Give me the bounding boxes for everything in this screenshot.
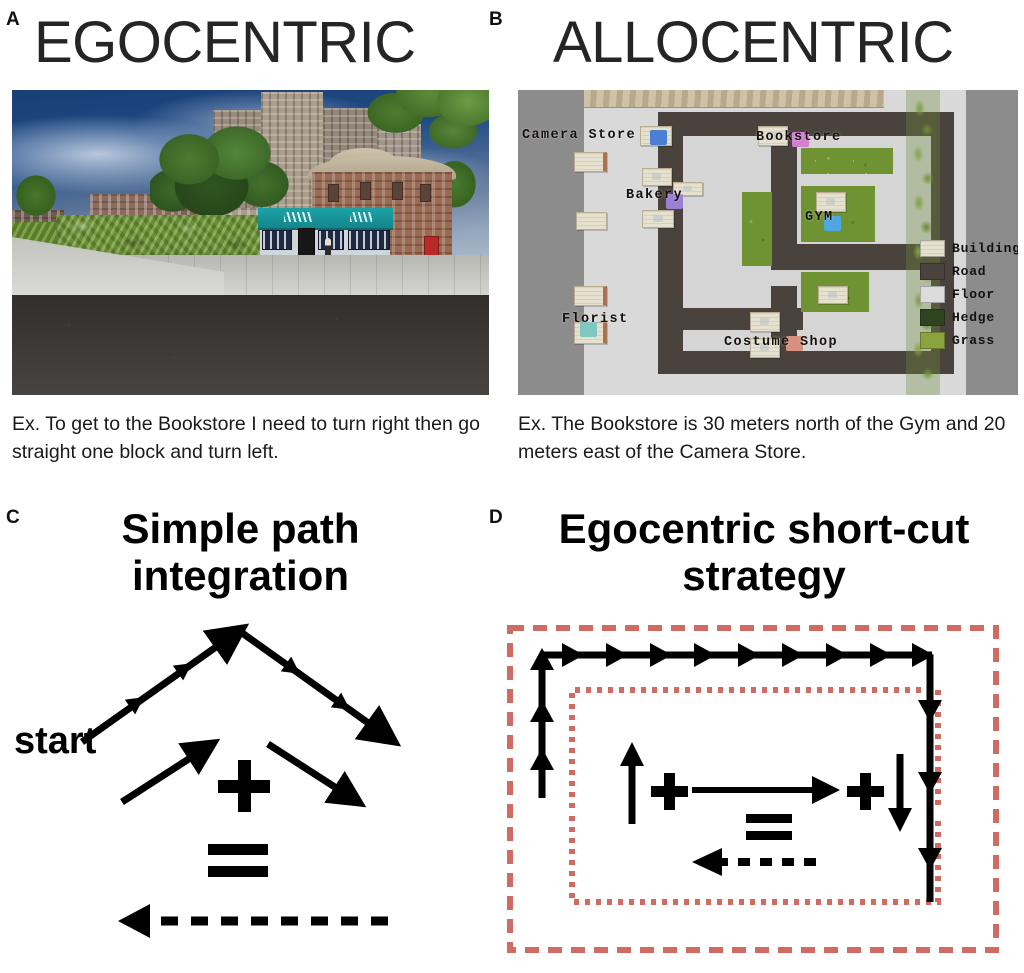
panel-b-caption: Ex. The Bookstore is 30 meters north of … <box>518 411 1018 466</box>
window <box>360 182 371 200</box>
arrowhead-right <box>650 643 672 667</box>
simple-path-integration-diagram <box>0 612 500 972</box>
panel-d-svg <box>496 612 1024 972</box>
panel-letter-a: A <box>6 10 20 29</box>
map-road-segment <box>683 308 803 330</box>
route-leg-east <box>542 643 934 667</box>
arrowhead-right <box>870 643 892 667</box>
vector-north <box>620 742 644 824</box>
legend-label-grass: Grass <box>952 333 995 348</box>
egocentric-shortcut-diagram <box>496 612 1024 972</box>
window <box>420 184 431 202</box>
map-legend: Building Road Floor Hedge Grass <box>920 240 1012 355</box>
awning-sign-text <box>350 212 372 222</box>
road-asphalt <box>12 295 489 395</box>
arrowhead-right <box>562 643 584 667</box>
figure-root: A EGOCENTRIC <box>0 0 1024 973</box>
poi-chip-camera-store <box>650 130 667 145</box>
arrowhead-up <box>530 748 554 770</box>
map-building <box>576 212 607 230</box>
vector-down-right <box>268 744 358 802</box>
equals-symbol <box>208 844 268 877</box>
allocentric-map-image: Camera Store Bookstore Bakery GYM Floris… <box>518 90 1018 395</box>
map-label-bookstore: Bookstore <box>756 130 842 145</box>
map-label-gym: GYM <box>805 210 834 225</box>
panel-a-caption: Ex. To get to the Bookstore I need to tu… <box>12 411 499 466</box>
equals-symbol-d <box>746 814 792 840</box>
map-building <box>642 210 674 228</box>
legend-swatch-floor <box>920 286 945 303</box>
map-top-building-roofs <box>584 90 884 108</box>
panel-letter-b: B <box>489 10 503 29</box>
plus-symbol-d-1 <box>648 770 690 812</box>
map-building <box>816 192 846 212</box>
legend-label-floor: Floor <box>952 287 995 302</box>
panel-a-title: EGOCENTRIC <box>34 14 416 72</box>
outbound-leg-1 <box>82 630 240 742</box>
map-label-bakery: Bakery <box>626 188 683 203</box>
map-grass <box>801 148 893 174</box>
shop-window <box>318 230 344 250</box>
panel-letter-c: C <box>6 508 20 527</box>
arrowhead-down <box>918 700 942 722</box>
homing-vector-dashed <box>118 904 388 938</box>
legend-label-hedge: Hedge <box>952 310 995 325</box>
map-building <box>750 312 780 332</box>
legend-swatch-grass <box>920 332 945 349</box>
map-building <box>574 152 607 172</box>
egocentric-street-view-image <box>12 90 489 395</box>
legend-item-hedge: Hedge <box>920 309 1012 326</box>
arrowhead-right <box>782 643 804 667</box>
arrowhead-up <box>530 648 554 670</box>
plus-symbol-d-2 <box>844 770 886 812</box>
shop-window <box>262 230 292 250</box>
shop-window <box>348 230 390 250</box>
arrowhead-right <box>694 643 716 667</box>
plus-symbol-c <box>214 756 274 816</box>
vector-south <box>888 754 912 832</box>
start-label: start <box>14 720 96 763</box>
legend-swatch-road <box>920 263 945 280</box>
panel-d-title: Egocentric short-cut strategy <box>508 505 1020 599</box>
shortcut-vector-dashed <box>692 848 816 876</box>
window <box>392 182 403 200</box>
panel-b-title: ALLOCENTRIC <box>553 14 954 72</box>
map-grass <box>742 192 772 266</box>
legend-label-road: Road <box>952 264 986 279</box>
legend-swatch-hedge <box>920 309 945 326</box>
legend-item-building: Building <box>920 240 1012 257</box>
legend-label-building: Building <box>952 241 1018 256</box>
legend-item-road: Road <box>920 263 1012 280</box>
vector-east <box>692 776 840 804</box>
map-label-costume-shop: Costume Shop <box>724 335 838 350</box>
arrowhead-up <box>530 700 554 722</box>
legend-item-floor: Floor <box>920 286 1012 303</box>
route-leg-north <box>530 648 554 798</box>
map-label-camera-store: Camera Store <box>522 128 636 143</box>
panel-letter-d: D <box>489 508 503 527</box>
arrowhead-right <box>738 643 760 667</box>
grass-texture <box>853 148 879 174</box>
legend-swatch-building <box>920 240 945 257</box>
outbound-leg-2 <box>238 630 392 740</box>
inner-boundary-lower-bracket <box>572 816 938 902</box>
grass-texture <box>815 148 841 174</box>
arrowhead-right <box>826 643 848 667</box>
map-building <box>642 168 672 186</box>
map-building <box>574 286 607 306</box>
legend-item-grass: Grass <box>920 332 1012 349</box>
map-label-florist: Florist <box>562 312 629 327</box>
panel-c-title: Simple path integration <box>28 505 453 599</box>
shop-awning <box>258 208 393 230</box>
window <box>328 184 339 202</box>
awning-sign-text <box>284 212 312 222</box>
arrowhead-right <box>606 643 628 667</box>
map-building <box>818 286 848 304</box>
vector-up-right <box>122 744 212 802</box>
